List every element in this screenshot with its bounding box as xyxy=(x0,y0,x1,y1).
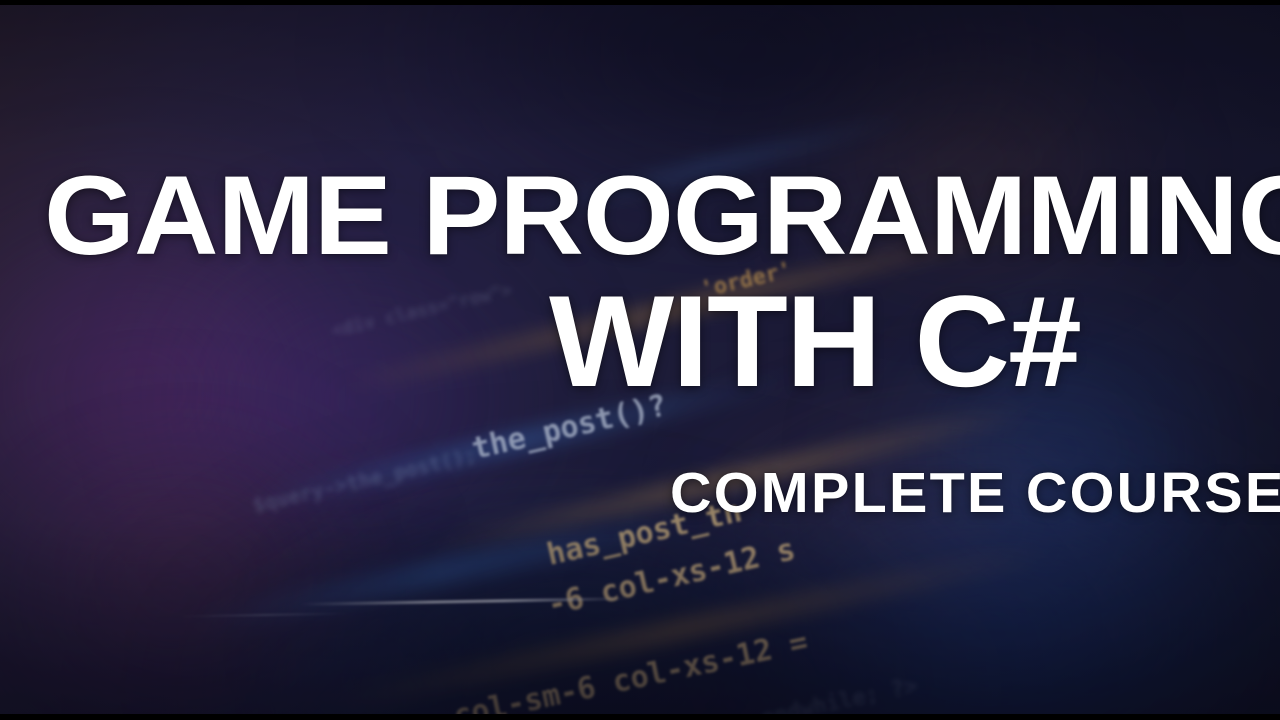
letterbox-bar-bottom xyxy=(0,714,1280,720)
page-subtitle: COMPLETE COURSE xyxy=(670,465,1280,522)
video-title-card: <div class="row"> 'order' the_post()? $q… xyxy=(0,0,1280,720)
title-block: GAME PROGRAMMING WITH C# COMPLETE COURSE xyxy=(0,0,1280,720)
letterbox-bar-top xyxy=(0,0,1280,5)
page-title-line-2: WITH C# xyxy=(549,276,1080,406)
page-title-line-1: GAME PROGRAMMING xyxy=(44,160,1280,272)
